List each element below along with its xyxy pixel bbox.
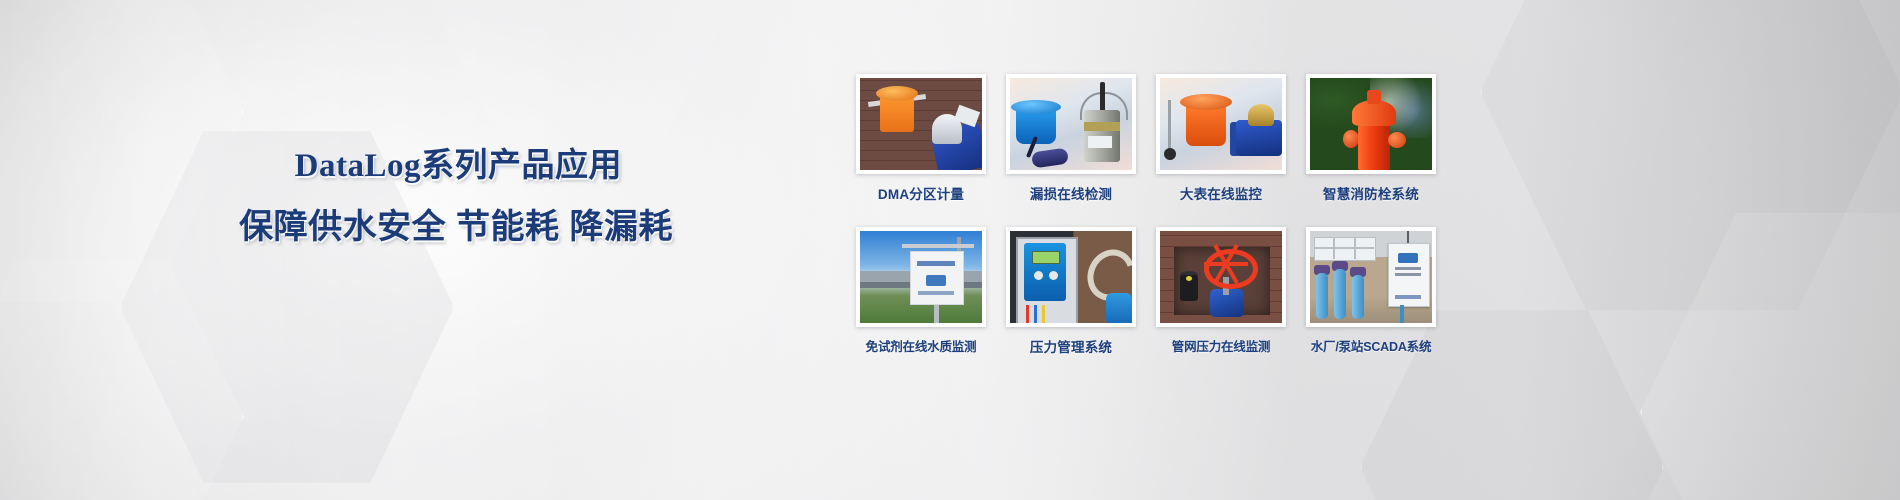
window-mullion-shape	[1354, 237, 1356, 259]
product-caption: 压力管理系统	[1006, 336, 1136, 356]
product-banner: DataLog系列产品应用 保障供水安全 节能耗 降漏耗 DMA分区计量	[0, 0, 1900, 500]
headline-line-1-cn: 系列产品应用	[421, 146, 622, 183]
hydrant-nozzle-shape	[1388, 132, 1406, 148]
product-caption: 漏损在线检测	[1006, 183, 1136, 203]
brass-register-shape	[1248, 104, 1274, 126]
panel-text-shape	[1395, 273, 1421, 276]
blue-chamber-and-leak-logger-image	[1010, 78, 1132, 170]
product-thumbnail[interactable]	[1156, 227, 1286, 327]
hydrant-cap-shape	[1367, 90, 1381, 104]
blue-pump-pipe-shape	[1334, 269, 1346, 319]
orange-lid-shape	[876, 86, 918, 101]
product-card-leak-detection[interactable]: 漏损在线检测	[1006, 74, 1136, 203]
headline-block: DataLog系列产品应用 保障供水安全 节能耗 降漏耗	[0, 146, 700, 247]
product-caption: 水厂/泵站SCADA系统	[1306, 336, 1436, 355]
headline-line-2: 保障供水安全 节能耗 降漏耗	[0, 207, 700, 247]
sign-footer-text-shape	[918, 291, 954, 295]
hydrant-body-shape	[1358, 122, 1390, 170]
blue-pipe-shape	[1106, 293, 1132, 323]
product-card-network-pressure[interactable]: 管网压力在线监测	[1156, 227, 1286, 356]
button-shape	[1049, 271, 1058, 280]
product-thumbnail[interactable]	[856, 227, 986, 327]
product-thumbnail[interactable]	[1006, 74, 1136, 174]
product-thumbnail[interactable]	[1306, 227, 1436, 327]
product-caption: 智慧消防栓系统	[1306, 183, 1436, 203]
product-card-dma[interactable]: DMA分区计量	[856, 74, 986, 203]
product-card-water-quality[interactable]: 免试剂在线水质监测	[856, 227, 986, 356]
headline-brand: DataLog	[295, 148, 421, 184]
product-thumbnail[interactable]	[856, 74, 986, 174]
hydrant-nozzle-shape	[1343, 130, 1359, 148]
sign-crossbar-shape	[902, 244, 974, 248]
product-card-row: 免试剂在线水质监测	[856, 227, 1856, 356]
headline-line-1: DataLog系列产品应用	[0, 146, 700, 185]
lcd-display-shape	[1032, 251, 1060, 264]
logger-indicator-shape	[1186, 276, 1192, 281]
hexagon-shape	[0, 250, 244, 500]
yellow-wire-shape	[1042, 305, 1045, 323]
blue-pump-pipe-shape	[1316, 273, 1328, 319]
probe-rod-shape	[1168, 100, 1171, 150]
product-card-row: DMA分区计量 漏损在线检测	[856, 74, 1856, 203]
sign-title-text-shape	[917, 261, 955, 266]
transmitter-module-shape	[1031, 148, 1069, 169]
water-quality-monitoring-sign-board-image	[860, 231, 982, 323]
product-caption: 免试剂在线水质监测	[856, 336, 986, 355]
product-card-scada[interactable]: 水厂/泵站SCADA系统	[1306, 227, 1436, 356]
orange-chamber-and-bulk-water-meter-image	[1160, 78, 1282, 170]
panel-downpipe-shape	[1400, 305, 1404, 323]
panel-text-shape	[1395, 267, 1421, 270]
logger-band-shape	[1084, 122, 1120, 131]
window-mullion-shape	[1333, 237, 1335, 259]
red-wire-shape	[1026, 305, 1029, 323]
red-fire-hydrant-on-grass-image	[1310, 78, 1432, 170]
product-card-pressure-management[interactable]: 压力管理系统	[1006, 227, 1136, 356]
blue-flange-shape	[1011, 100, 1061, 114]
valve-with-red-handwheel-in-brick-pit-image	[1160, 231, 1282, 323]
product-thumbnail[interactable]	[1006, 227, 1136, 327]
probe-ball-shape	[1164, 148, 1176, 160]
orange-flange-shape	[1180, 94, 1232, 110]
blue-pump-pipe-shape	[1352, 275, 1364, 319]
product-caption: 大表在线监控	[1156, 183, 1286, 203]
logger-label-shape	[1088, 136, 1112, 148]
company-logo-shape	[1398, 253, 1418, 263]
dma-chamber-on-brick-pavement-image	[860, 78, 982, 170]
product-card-bulk-meter[interactable]: 大表在线监控	[1156, 74, 1286, 203]
panel-footer-text-shape	[1395, 295, 1421, 299]
product-caption: DMA分区计量	[856, 183, 986, 203]
product-caption: 管网压力在线监测	[1156, 336, 1286, 355]
blue-pressure-controller-cabinet-image	[1010, 231, 1132, 323]
window-mullion-shape	[1314, 247, 1374, 249]
button-shape	[1034, 271, 1043, 280]
product-thumbnail[interactable]	[1306, 74, 1436, 174]
product-card-grid: DMA分区计量 漏损在线检测	[856, 74, 1856, 356]
hexagon-shape	[430, 0, 734, 164]
orange-chamber-shape	[1186, 104, 1226, 146]
product-thumbnail[interactable]	[1156, 74, 1286, 174]
product-card-smart-hydrant[interactable]: 智慧消防栓系统	[1306, 74, 1436, 203]
pump-room-with-scada-panel-image	[1310, 231, 1432, 323]
window-shape	[1314, 237, 1376, 261]
company-logo-shape	[926, 275, 946, 286]
blue-wire-shape	[1034, 305, 1037, 323]
